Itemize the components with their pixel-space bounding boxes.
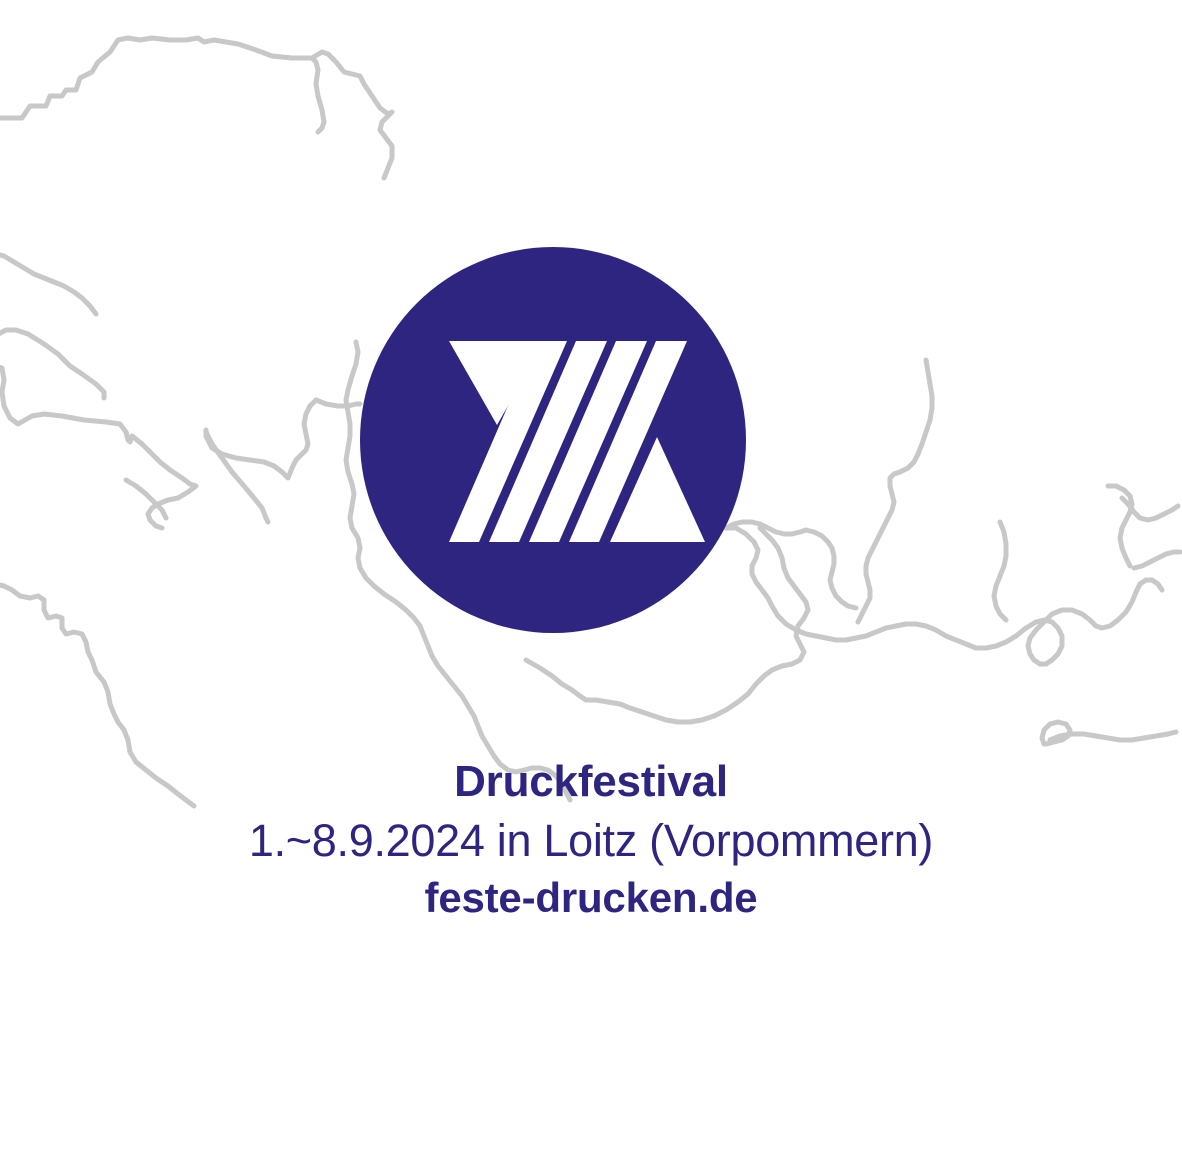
druckfestival-logo <box>360 247 746 633</box>
map-line-northeast-tail <box>1134 552 1180 568</box>
map-line-center-creek <box>206 400 316 478</box>
map-line-east-main-road <box>726 528 1162 664</box>
map-line-east-north-branch <box>858 360 932 622</box>
map-line-east-spur <box>994 522 1006 620</box>
poster-text-block: Druckfestival 1.~8.9.2024 in Loitz (Vorp… <box>0 760 1182 919</box>
map-line-river-west <box>0 366 196 528</box>
event-date-location: 1.~8.9.2024 in Loitz (Vorpommern) <box>0 818 1182 863</box>
map-line-river-upper-left <box>0 330 104 398</box>
map-line-north-road <box>0 38 324 132</box>
map-line-sw-hatch <box>126 480 166 518</box>
page-title: Druckfestival <box>0 760 1182 804</box>
poster-canvas: Druckfestival 1.~8.9.2024 in Loitz (Vorp… <box>0 0 1182 1158</box>
map-line-northwest-lower <box>0 254 96 314</box>
event-website-url[interactable]: feste-drucken.de <box>0 877 1182 919</box>
map-line-center-left-arm <box>316 400 360 406</box>
map-line-center-stream <box>206 432 268 522</box>
